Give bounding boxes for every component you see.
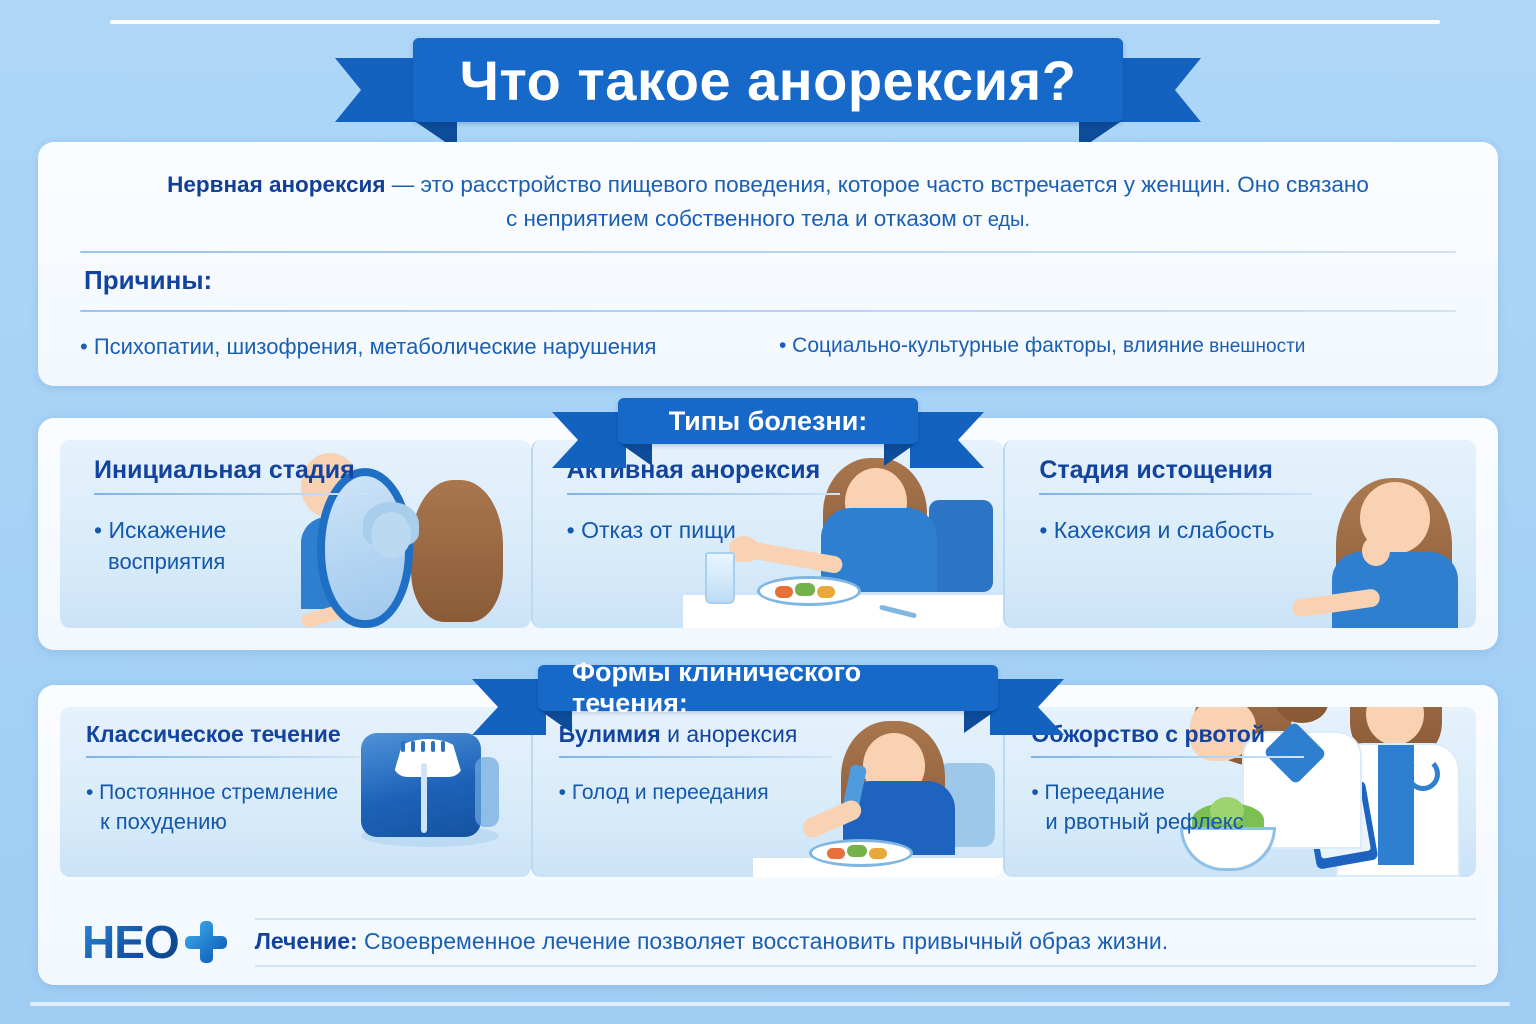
cause-item-2-main: • Социально-культурные факторы, влияние	[779, 334, 1204, 357]
clipboard-icon	[1304, 780, 1379, 870]
card-bullet-line1: • Переедание	[1031, 781, 1164, 804]
card-bullet-line1: • Кахексия и слабость	[1039, 517, 1274, 543]
intro-divider	[80, 251, 1456, 253]
forms-ribbon: Формы клинического течения:	[538, 665, 998, 711]
hand-shape	[1362, 536, 1390, 566]
clipboard-page	[1311, 789, 1371, 859]
intro-panel: Нервная анорексия — это расстройство пищ…	[38, 142, 1498, 386]
card-bullet: • Голод и переедания	[533, 758, 815, 807]
card-bullet: • Искажение восприятия	[60, 495, 342, 577]
face-shape	[1360, 482, 1430, 554]
ribbon-tail-right	[1117, 58, 1201, 122]
form-card-bulimia[interactable]: Булимия и анорексия • Голод и переедания	[531, 707, 1004, 877]
body-shape	[843, 781, 955, 859]
types-card-list: Инициальная стадия • Искажение восприяти…	[60, 440, 1476, 628]
food-broccoli	[795, 583, 815, 596]
arm-shape	[300, 603, 348, 628]
table-shape	[753, 855, 1003, 877]
hair-shape	[411, 480, 503, 622]
treatment-label: Лечение:	[255, 928, 358, 954]
chair-shape	[937, 763, 995, 847]
treatment-note: Лечение: Своевременное лечение позволяет…	[255, 918, 1476, 967]
causes-heading: Причины:	[84, 265, 1456, 296]
causes-list: • Психопатии, шизофрения, метаболические…	[80, 334, 1456, 360]
body-shape	[821, 508, 937, 594]
food-broccoli	[847, 845, 867, 857]
card-title-bold: Булимия	[559, 721, 661, 747]
scale-body	[361, 733, 481, 837]
card-title: Стадия истощения	[1005, 440, 1476, 485]
card-bullet-line1: • Постоянное стремление	[86, 781, 338, 804]
card-bullet: • Постоянное стремление к похудению	[60, 758, 342, 836]
card-bullet: • Переедание и рвотный рефлекс	[1005, 758, 1287, 836]
cause-item-2: • Социально-культурные факторы, влияние …	[757, 334, 1456, 360]
food-carrot	[827, 848, 845, 859]
food-corn	[869, 848, 887, 859]
type-card-exhaustion[interactable]: Стадия истощения • Кахексия и слабость	[1003, 440, 1476, 628]
card-title: Обжорство с рвотой	[1005, 707, 1476, 748]
card-title: Классическое течение	[60, 707, 531, 748]
plate-icon	[809, 839, 913, 867]
reflection-face	[371, 512, 411, 558]
water-glass-icon	[705, 552, 735, 604]
footer: НЕО Лечение: Своевременное лечение позво…	[60, 915, 1476, 969]
page-title: Что такое анорексия?	[413, 38, 1123, 122]
reflection-hair	[363, 502, 419, 546]
forms-card-list: Классическое течение • Постоянное стремл…	[60, 707, 1476, 877]
body-shape	[1332, 552, 1458, 628]
food-carrot	[775, 586, 793, 598]
doctor-coat-shape	[1336, 743, 1460, 877]
title-ribbon: Что такое анорексия?	[413, 38, 1123, 122]
cause-item-1: • Психопатии, шизофрения, метаболические…	[80, 334, 757, 360]
types-ribbon-label: Типы болезни:	[618, 398, 918, 444]
treatment-text: Своевременное лечение позволяет восстано…	[358, 928, 1168, 954]
forms-panel: Классическое течение • Постоянное стремл…	[38, 685, 1498, 985]
card-title-regular: и анорексия	[661, 721, 798, 747]
form-card-binge-vomit[interactable]: Обжорство с рвотой • Переедание и рвотны…	[1003, 707, 1476, 877]
intro-line2-tail: от еды.	[957, 209, 1030, 231]
card-bullet: • Отказ от пищи	[533, 495, 815, 546]
card-title-bold: Обжорство с рвотой	[1031, 721, 1265, 747]
card-bullet-line1: • Искажение	[94, 517, 226, 543]
fork-icon	[843, 764, 867, 808]
type-card-active[interactable]: Активная анорексия • Отказ от пищи	[531, 440, 1004, 628]
chair-shape	[929, 500, 993, 592]
logo-text: НЕО	[82, 915, 179, 969]
types-ribbon: Типы болезни:	[618, 398, 918, 444]
scale-shadow	[361, 825, 499, 847]
stethoscope-icon	[1406, 757, 1440, 791]
intro-dash: —	[386, 172, 421, 197]
card-bullet: • Кахексия и слабость	[1005, 495, 1287, 546]
table-shape	[683, 592, 1003, 628]
forms-ribbon-label: Формы клинического течения:	[538, 665, 998, 711]
plate-icon	[757, 576, 861, 606]
types-panel: Инициальная стадия • Искажение восприяти…	[38, 418, 1498, 650]
scale-needle	[421, 763, 427, 833]
card-bullet-line2: к похудению	[86, 807, 342, 836]
intro-paragraph: Нервная анорексия — это расстройство пищ…	[80, 168, 1456, 237]
plus-icon	[183, 919, 229, 965]
fork-icon	[879, 604, 917, 618]
type-card-initial[interactable]: Инициальная стадия • Искажение восприяти…	[60, 440, 531, 628]
hair-shape	[1336, 478, 1452, 618]
brand-logo[interactable]: НЕО	[82, 915, 229, 969]
intro-lead: Нервная анорексия	[167, 172, 385, 197]
card-bullet-line1: • Отказ от пищи	[567, 517, 736, 543]
doctor-shirt-shape	[1378, 745, 1414, 865]
ribbon-tail-left	[335, 58, 419, 122]
bottom-divider	[30, 1002, 1510, 1006]
arm-shape	[1291, 588, 1381, 618]
card-bullet-line2: и рвотный рефлекс	[1031, 807, 1287, 836]
card-title: Инициальная стадия	[60, 440, 531, 485]
card-title-bold: Классическое течение	[86, 721, 341, 747]
intro-line2: с неприятием собственного тела и отказом	[506, 206, 957, 231]
top-divider	[110, 20, 1440, 24]
cause-item-2-tail: внешности	[1204, 336, 1306, 357]
card-bullet-line1: • Голод и переедания	[559, 781, 769, 804]
causes-divider	[80, 310, 1456, 312]
food-corn	[817, 586, 835, 598]
intro-body: это расстройство пищевого поведения, кот…	[421, 172, 1369, 197]
form-card-classic[interactable]: Классическое течение • Постоянное стремл…	[60, 707, 531, 877]
scale-side-shadow	[475, 757, 499, 827]
card-bullet-line2: восприятия	[94, 546, 342, 577]
